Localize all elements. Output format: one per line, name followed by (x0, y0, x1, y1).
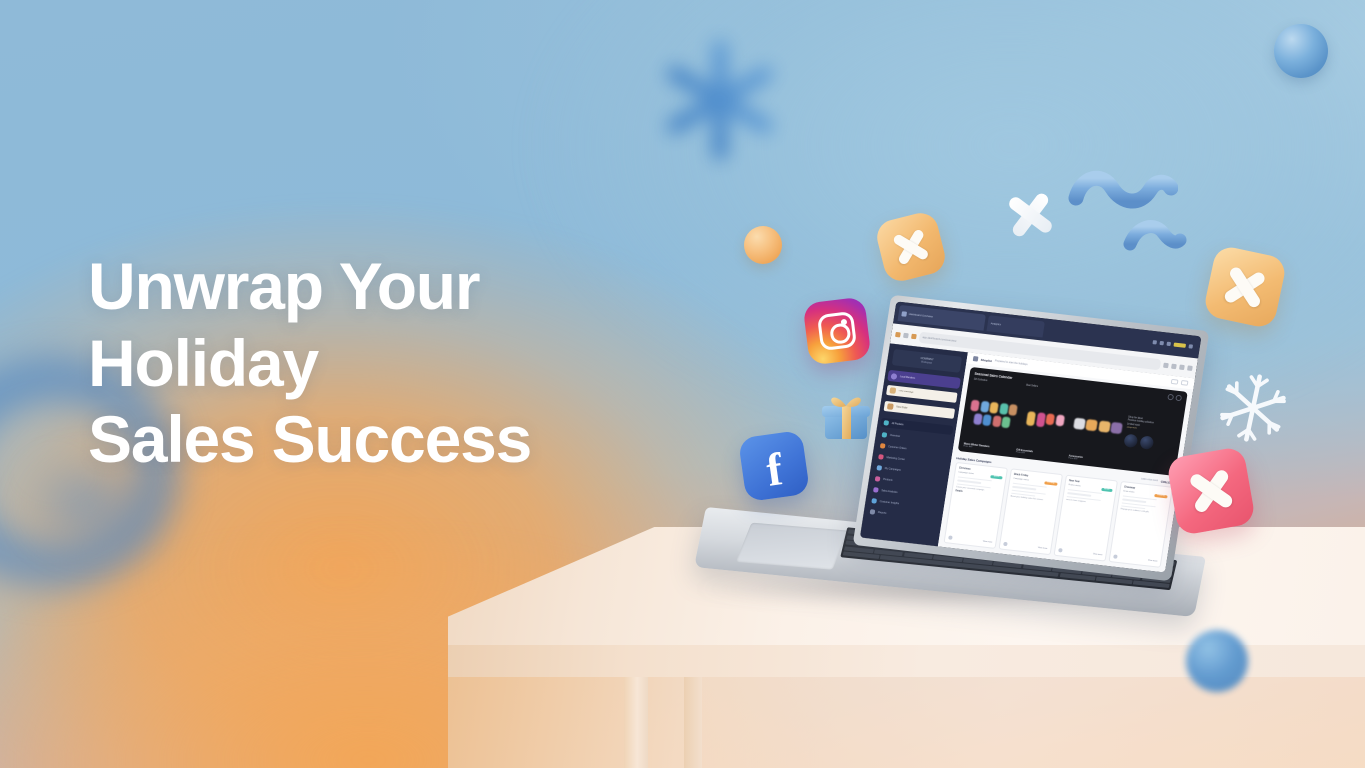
campaign-card-body: Reach more shoppers (1066, 499, 1110, 506)
status-badge: Pending (1154, 494, 1168, 499)
headline-line-3: Sales Success (88, 401, 688, 478)
avatar (1003, 542, 1008, 546)
campaign-card-link[interactable]: View more (1093, 553, 1103, 556)
hero-side-panel: Shop the latest Premium holiday collecti… (1121, 397, 1181, 471)
forward-icon[interactable] (903, 333, 909, 339)
campaigns-icon (876, 466, 882, 472)
campaign-card-body: Engage your audience with gifts (1120, 509, 1164, 516)
laptop-trackpad[interactable] (736, 523, 848, 570)
campaign-card[interactable]: New Year Promo status Active Reach more … (1053, 474, 1118, 561)
grid-icon (972, 356, 978, 362)
orders-icon (880, 444, 886, 450)
app-main: Shoplist Prepared to start the holidays … (938, 353, 1195, 573)
overflow-menu-icon[interactable] (1187, 365, 1193, 371)
sidebar-item-label: Reports (878, 511, 887, 515)
order-icon (887, 404, 894, 411)
sidebar-item-label: Customer Orders (888, 445, 907, 450)
overview-icon (881, 433, 887, 439)
status-badge: Active (991, 475, 1003, 480)
headline-line-2: Holiday (88, 325, 688, 402)
hero-banner-scene: Dashboard Overview Analytics (0, 0, 1365, 768)
address-bar-text: app.dashboard.com/overview (922, 336, 956, 343)
hero-product-cell[interactable]: Accessories From $19 (1068, 391, 1127, 465)
page-title: Unwrap Your Holiday Sales Success (88, 248, 688, 478)
campaign-card[interactable]: Giveaway Draw status Pending Engage your… (1108, 481, 1173, 568)
sidebar-notification-card[interactable]: New Message (886, 385, 957, 403)
avatar (1058, 548, 1063, 552)
app-header-subtitle: Prepared to start the holidays (995, 360, 1028, 367)
sidebar-card-label: New Order (896, 407, 907, 410)
grid-icon (883, 421, 889, 427)
sidebar-brand-sub: Workspace (921, 362, 932, 365)
campaign-card-link[interactable]: View more (1038, 547, 1048, 550)
message-icon (889, 388, 896, 395)
desk-leg (684, 673, 702, 768)
minimize-icon[interactable] (1152, 340, 1157, 344)
product-thumbnail (1124, 433, 1139, 447)
reports-icon (870, 510, 876, 516)
highlight-chip (1173, 343, 1186, 348)
product-image (1069, 392, 1127, 459)
sphere-blue-top-right-icon (1274, 24, 1328, 78)
campaigns-meta: Sales ends soon (1141, 478, 1158, 482)
browser-tab[interactable]: Analytics (986, 315, 1045, 338)
campaign-card[interactable]: Black Friday Campaign status Pending Boo… (998, 468, 1063, 555)
sidebar-notification-card[interactable]: New Order (883, 401, 954, 419)
hero-product-cell[interactable]: Best Sellers (1016, 385, 1075, 459)
maximize-icon[interactable] (1159, 341, 1164, 345)
browser-tab-title: Analytics (990, 322, 1001, 326)
sidebar-section-label: All Products (892, 423, 904, 426)
desk-leg (624, 673, 648, 768)
sidebar-item-label: My Campaigns (884, 467, 900, 472)
sidebar-item-label: Marketing Center (886, 456, 905, 461)
reload-icon[interactable] (911, 334, 917, 340)
laptop-lid: Dashboard Overview Analytics (853, 295, 1210, 582)
status-badge: Active (1101, 487, 1113, 492)
squiggle-blue-small-icon (1122, 218, 1188, 252)
status-badge: Pending (1044, 481, 1058, 486)
campaign-card[interactable]: Christmas Campaign status Active Create … (943, 462, 1008, 549)
sidebar-item-label: Overview (890, 434, 900, 438)
campaign-card-link[interactable]: View more (1148, 559, 1158, 562)
marketing-icon (878, 455, 884, 461)
sidebar-item-label: Customer Insights (879, 500, 899, 505)
chevron-left-icon[interactable] (1167, 394, 1174, 401)
products-icon (875, 477, 881, 483)
browser-tab-title: Dashboard Overview (908, 313, 933, 319)
menu-icon[interactable] (1188, 344, 1193, 348)
campaign-card-body: Boost your holiday sales this season (1010, 496, 1054, 503)
profile-icon[interactable] (1179, 364, 1185, 370)
product-image (964, 382, 1022, 447)
product-image (1017, 388, 1075, 453)
snowflake-white-icon (1216, 371, 1290, 445)
bookmark-icon[interactable] (1171, 364, 1177, 370)
snowflake-blurred-blue-icon (650, 30, 790, 170)
sidebar-active-label: Loyal Members (900, 376, 915, 380)
avatar (948, 535, 953, 539)
chevron-right-icon[interactable] (1175, 395, 1182, 402)
sidebar-item-label: Products (883, 478, 893, 482)
analytics-icon (873, 488, 879, 494)
product-thumbnail (1140, 435, 1155, 449)
close-icon[interactable] (1166, 342, 1171, 346)
gift-box-icon (815, 385, 877, 447)
favicon-icon (901, 311, 907, 317)
facebook-icon[interactable]: f (738, 430, 810, 502)
extension-icon[interactable] (1163, 363, 1169, 369)
campaign-card-link[interactable]: View more (983, 540, 993, 543)
header-action-button[interactable] (1171, 379, 1179, 385)
tile-pink-cross-icon (1166, 446, 1256, 536)
hero-product-cell[interactable]: Gift Collection (963, 379, 1022, 453)
avatar (891, 373, 898, 380)
sidebar-card-label: New Message (899, 391, 914, 395)
app-window: COMPANY Workspace Loyal Members New Mess… (860, 344, 1195, 573)
sphere-blue-bottom-right-icon (1186, 630, 1248, 692)
sphere-orange-icon (744, 226, 782, 264)
sidebar-brand: COMPANY Workspace (892, 349, 962, 373)
header-action-button[interactable] (1181, 380, 1189, 386)
cross-white-icon (1002, 187, 1058, 243)
laptop-screen: Dashboard Overview Analytics (860, 301, 1202, 572)
avatar (1113, 554, 1118, 558)
headline-line-1: Unwrap Your (88, 248, 688, 325)
squiggle-blue-large-icon (1068, 168, 1178, 216)
sidebar-item-label: Sales Analytics (881, 489, 898, 494)
app-header-title: Shoplist (980, 358, 992, 363)
instagram-icon[interactable] (802, 296, 871, 365)
back-icon[interactable] (895, 332, 901, 338)
insights-icon (871, 499, 877, 505)
window-controls[interactable] (1152, 340, 1196, 349)
